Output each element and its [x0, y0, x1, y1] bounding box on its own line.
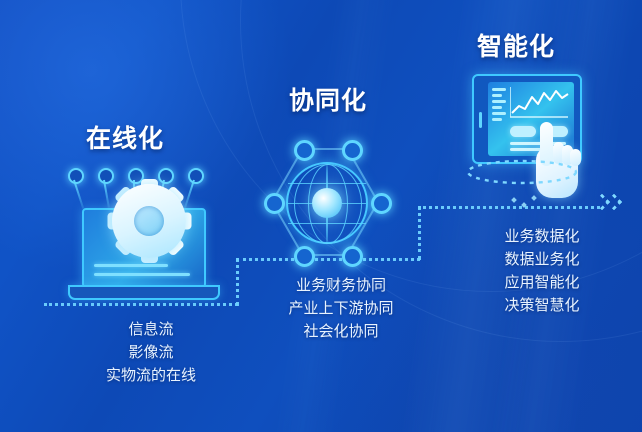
caption-line: 决策智慧化	[462, 294, 622, 317]
screen-text-line	[94, 264, 168, 267]
circuit-node-icon	[98, 168, 114, 184]
sidebar-bar	[492, 106, 502, 109]
caption-line: 影像流	[48, 341, 254, 364]
globe-parallel	[288, 223, 366, 224]
sparkle-icon	[511, 197, 517, 203]
captions-collaboration: 业务财务协同 产业上下游协同 社会化协同	[250, 274, 432, 343]
sidebar-bar	[492, 112, 506, 115]
dotted-line-icon	[418, 206, 600, 209]
screen-text-line	[94, 273, 190, 276]
caption-line: 业务财务协同	[250, 274, 432, 297]
caption-line: 实物流的在线	[48, 364, 254, 387]
gear-icon	[112, 184, 186, 258]
laptop-gear-icon	[60, 168, 245, 308]
light-streak	[481, 0, 642, 432]
network-node-icon	[342, 140, 363, 161]
globe-outline	[286, 162, 368, 244]
sidebar-bar	[492, 118, 502, 121]
stage-heading-collaboration: 协同化	[289, 81, 367, 117]
caption-line: 数据业务化	[462, 248, 622, 271]
tablet-hand-icon	[468, 72, 598, 202]
globe-parallel	[288, 183, 366, 184]
circuit-node-icon	[188, 168, 204, 184]
captions-intelligence: 业务数据化 数据业务化 应用智能化 决策智慧化	[462, 225, 622, 317]
globe-network-icon	[264, 140, 386, 262]
stage-heading-online: 在线化	[86, 119, 164, 155]
caption-line: 信息流	[48, 318, 254, 341]
dotted-line-icon	[418, 206, 421, 260]
dotted-arrow-icon	[606, 194, 623, 211]
captions-online: 信息流 影像流 实物流的在线	[48, 318, 254, 387]
gear-hole	[134, 206, 164, 236]
globe-core	[312, 188, 342, 218]
circuit-wire	[73, 180, 84, 209]
network-node-icon	[371, 193, 392, 214]
caption-line: 产业上下游协同	[250, 297, 432, 320]
caption-line: 社会化协同	[250, 320, 432, 343]
tablet-home-button	[479, 112, 482, 128]
line-chart-icon	[510, 87, 572, 121]
caption-line: 业务数据化	[462, 225, 622, 248]
sidebar-bar	[492, 88, 506, 91]
sidebar-bar	[492, 94, 502, 97]
circuit-node-icon	[158, 168, 174, 184]
caption-line: 应用智能化	[462, 271, 622, 294]
circuit-node-icon	[68, 168, 84, 184]
network-node-icon	[294, 140, 315, 161]
circuit-wire	[103, 180, 110, 208]
infographic-canvas: 在线化 信息流 影像流 实物流的在线 协同化	[0, 0, 642, 432]
network-node-icon	[264, 193, 285, 214]
dotted-shadow-icon	[464, 158, 584, 186]
network-node-icon	[342, 246, 363, 267]
stage-heading-intelligence: 智能化	[477, 27, 555, 63]
network-node-icon	[294, 246, 315, 267]
laptop-base	[68, 285, 220, 300]
sidebar-bar	[492, 100, 506, 103]
